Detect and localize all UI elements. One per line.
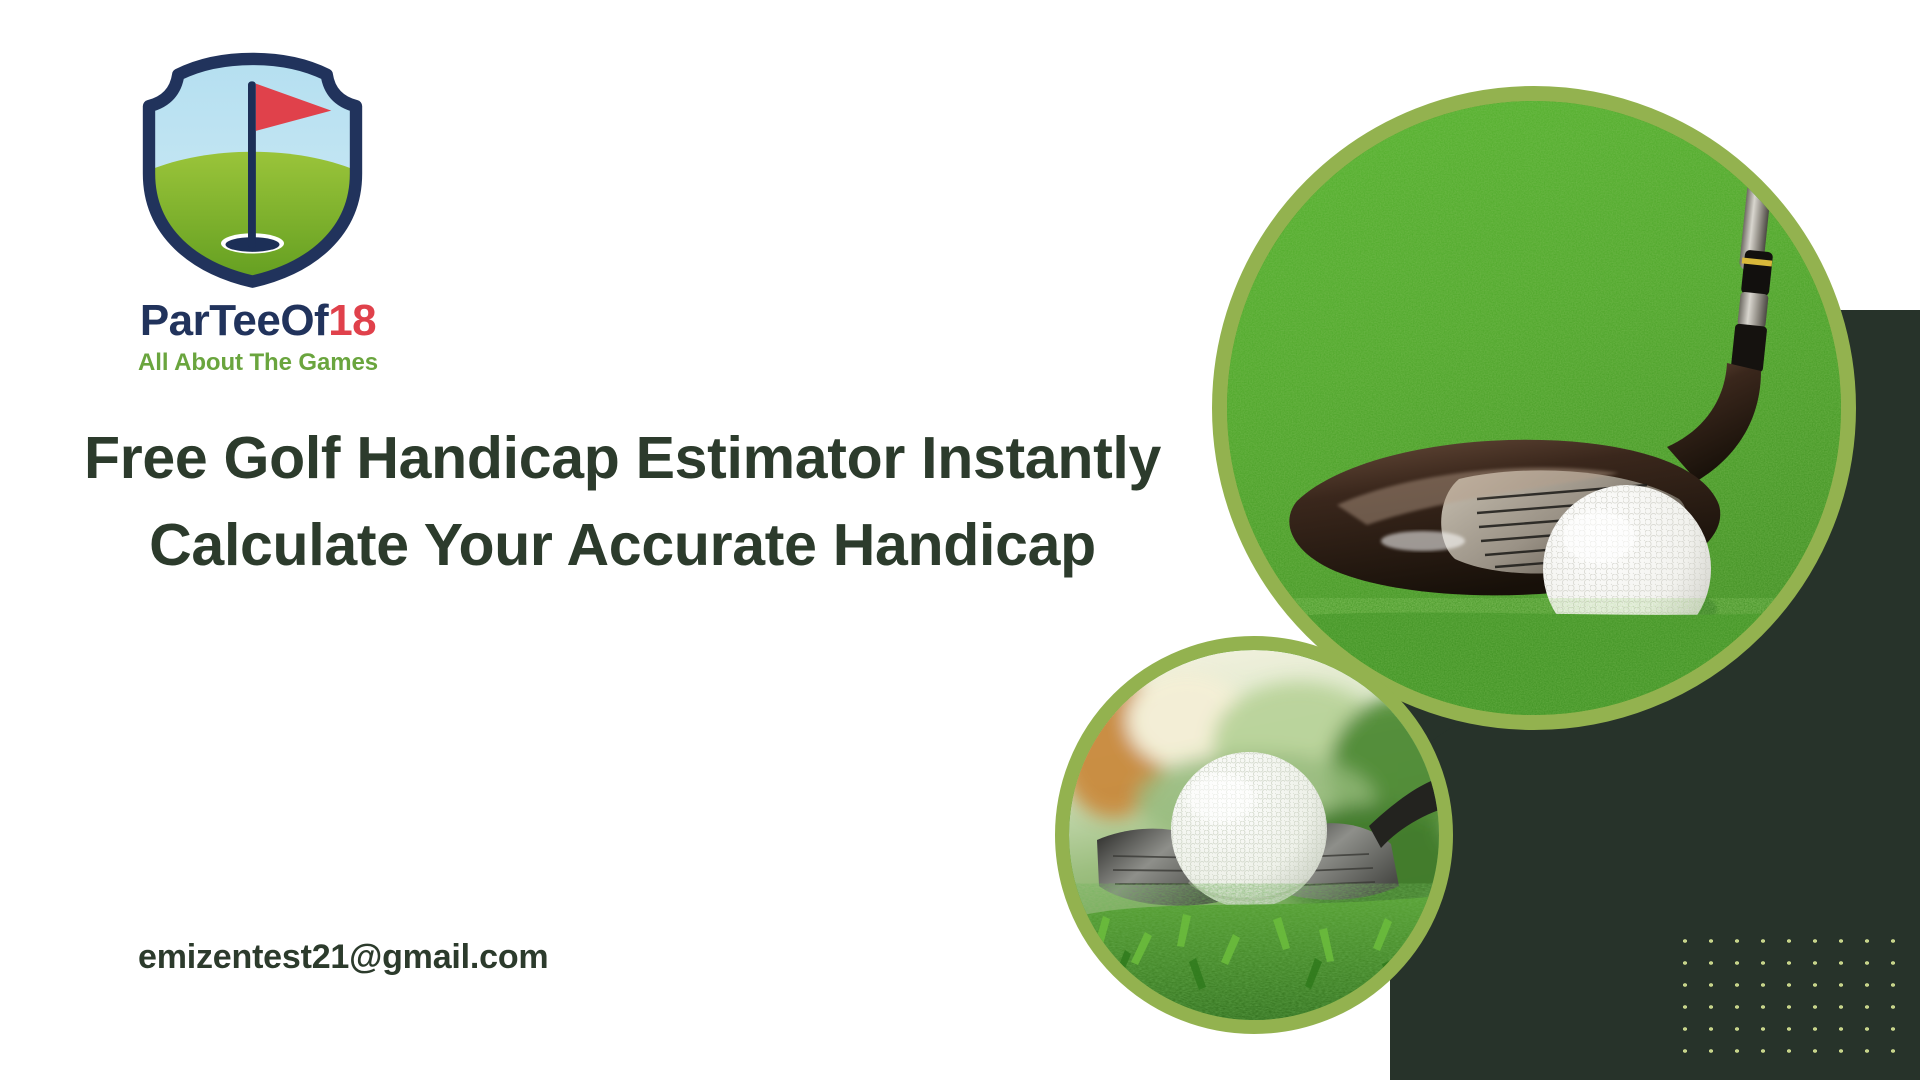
brand-tagline: All About The Games	[108, 349, 408, 377]
promo-banner: ParTeeOf18 All About The Games Free Golf…	[0, 0, 1920, 1080]
golf-shield-flag-icon	[140, 52, 365, 289]
page-title: Free Golf Handicap Estimator Instantly C…	[40, 415, 1205, 590]
photo-image-large	[1227, 101, 1841, 715]
brand-wordmark: ParTeeOf18	[108, 299, 408, 343]
photo-image-small	[1069, 650, 1439, 1020]
contact-email[interactable]: emizentest21@gmail.com	[138, 938, 548, 977]
brand-logo[interactable]: ParTeeOf18 All About The Games	[108, 52, 408, 377]
golf-driver-and-ball-on-turf-photo	[1212, 86, 1856, 730]
brand-primary-text: ParTeeOf	[140, 296, 328, 345]
golf-ball-on-tee-photo	[1055, 636, 1453, 1034]
brand-accent-text: 18	[328, 296, 376, 345]
dot-grid-pattern	[1672, 930, 1908, 1058]
